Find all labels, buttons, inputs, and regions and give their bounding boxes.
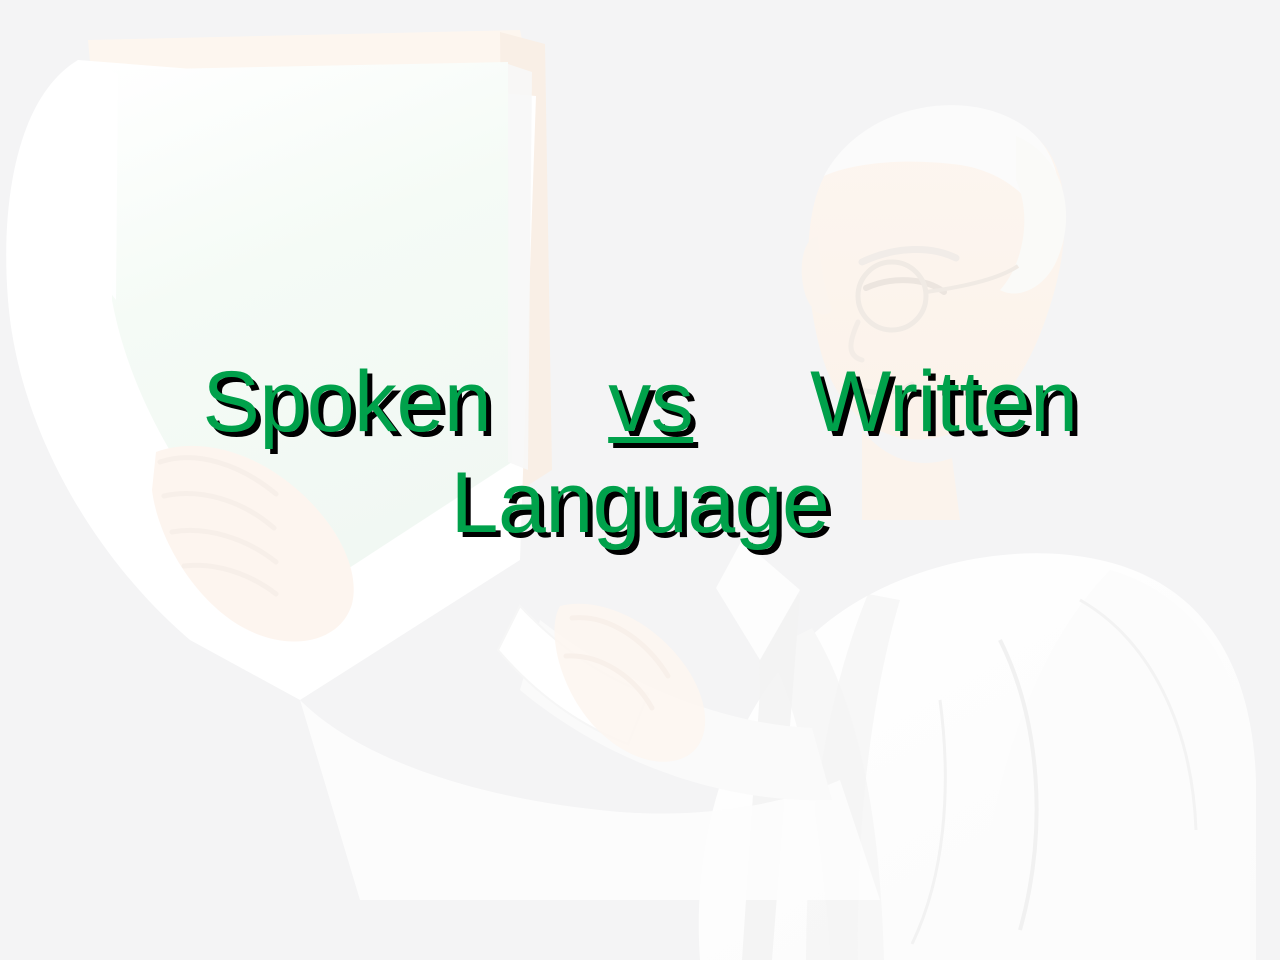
title-line-1: Spoken vs Written: [0, 352, 1280, 453]
watermark-hand-lower: [554, 604, 705, 762]
title-line-2: Language: [0, 453, 1280, 554]
title-gap-2: [693, 354, 810, 450]
title-word-written: Written: [810, 354, 1077, 450]
title-word-spoken: Spoken: [203, 354, 492, 450]
slide-title: Spoken vs Written Language: [0, 352, 1280, 555]
title-word-vs: vs: [608, 354, 693, 450]
presentation-slide: Spoken vs Written Language: [0, 0, 1280, 960]
title-gap-1: [491, 354, 608, 450]
